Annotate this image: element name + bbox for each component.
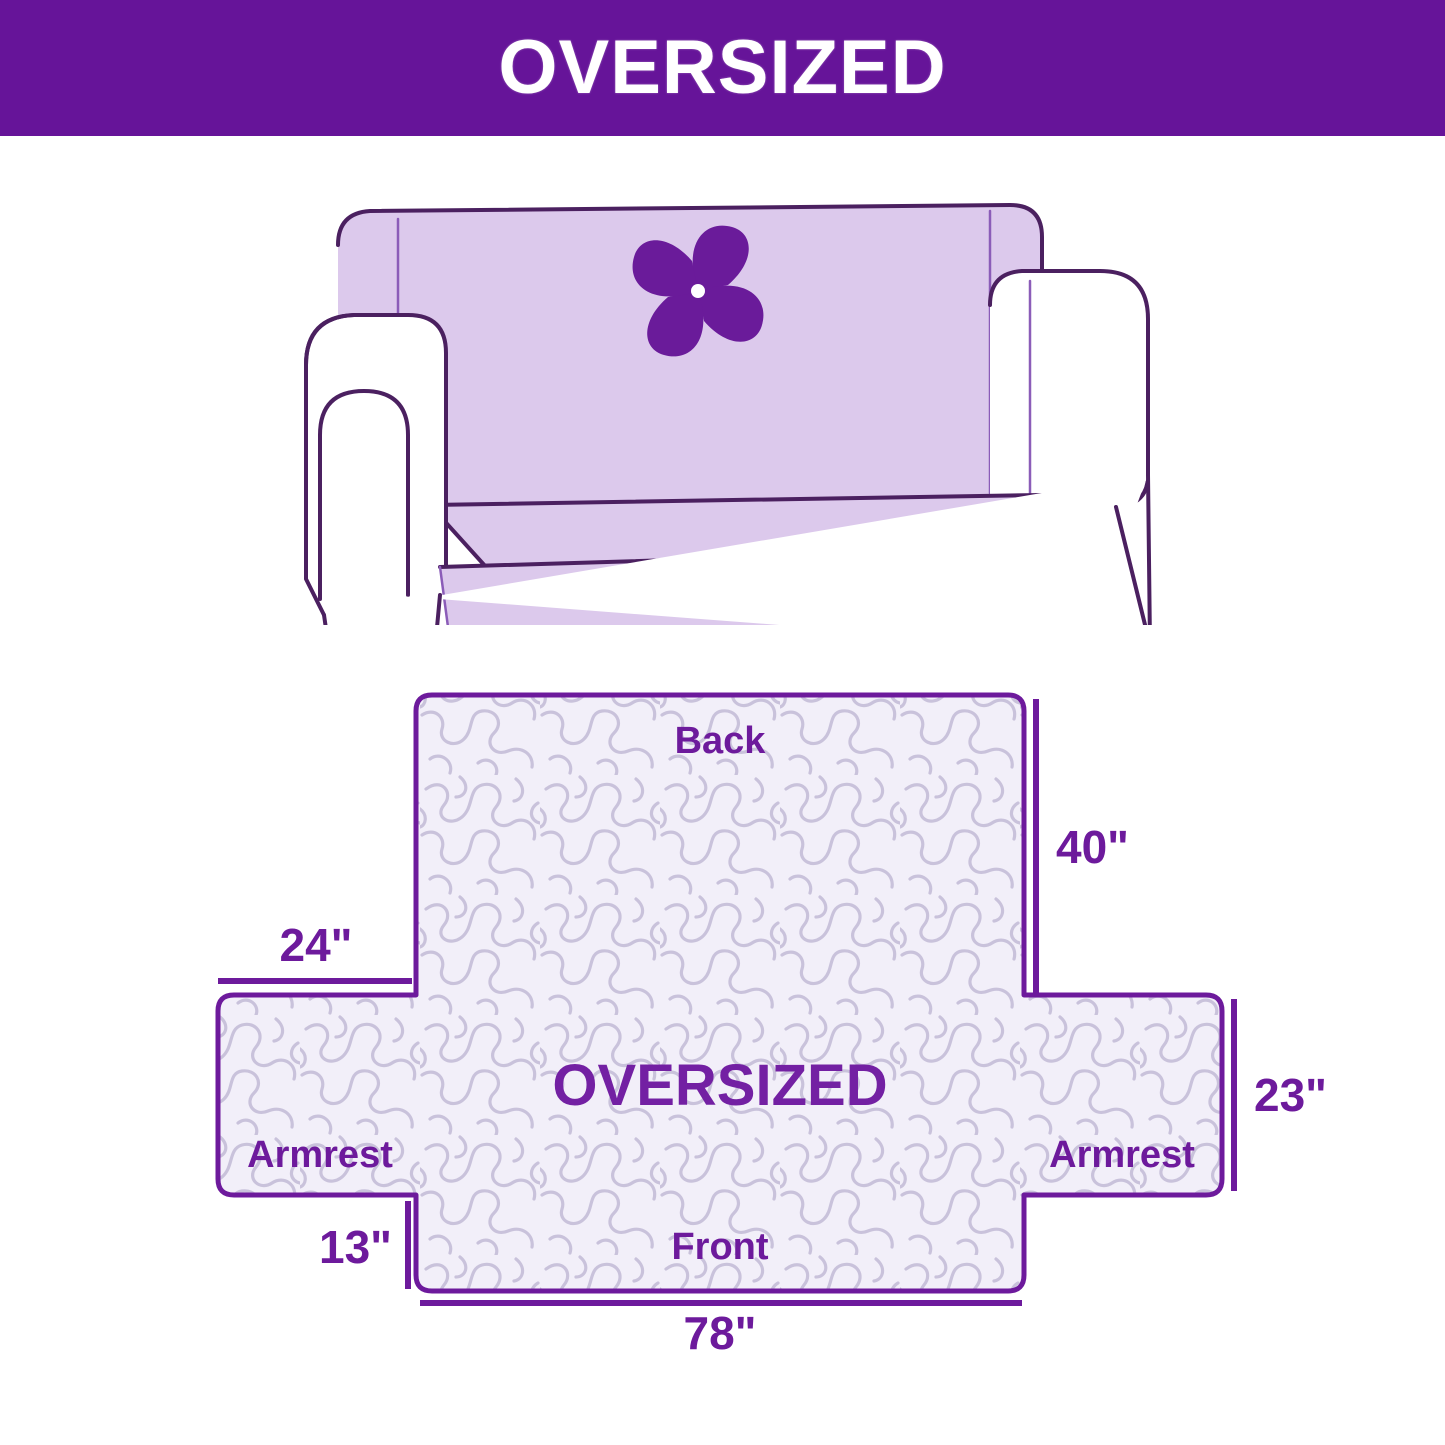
- dimension-total-width: 78": [420, 1303, 1022, 1355]
- dimension-value-40: 40": [1056, 821, 1129, 873]
- panel-label-armrest-right: Armrest: [1049, 1134, 1195, 1176]
- dimension-diagram: .panel-fill { fill: url(#quilt-pattern);…: [180, 655, 1350, 1355]
- page-title: OVERSIZED: [498, 30, 946, 106]
- header-banner: OVERSIZED: [0, 0, 1445, 136]
- sofa-left-arm-roll: [320, 391, 408, 599]
- sofa-illustration: .sofa-line { fill:none; stroke:#4B2060; …: [290, 175, 1180, 625]
- dimension-armrest-offset: 24": [218, 919, 412, 981]
- dimension-value-23: 23": [1254, 1069, 1327, 1121]
- dimension-value-13: 13": [319, 1221, 392, 1273]
- panel-label-armrest-left: Armrest: [247, 1134, 393, 1176]
- dimension-armrest-height: 23": [1234, 999, 1327, 1191]
- center-size-label: OVERSIZED: [552, 1053, 887, 1118]
- pinwheel-fan-logo: [633, 226, 764, 357]
- dimension-value-24: 24": [280, 919, 353, 971]
- dimension-value-78: 78": [684, 1307, 757, 1355]
- slipcover-flat-shape: [218, 695, 1222, 1291]
- panel-label-front: Front: [671, 1226, 768, 1268]
- panel-label-back: Back: [675, 720, 767, 762]
- dimension-front-drop: 13": [319, 1201, 408, 1289]
- sofa-right-arm: [990, 271, 1148, 513]
- dimension-back-height: 40": [1036, 699, 1129, 993]
